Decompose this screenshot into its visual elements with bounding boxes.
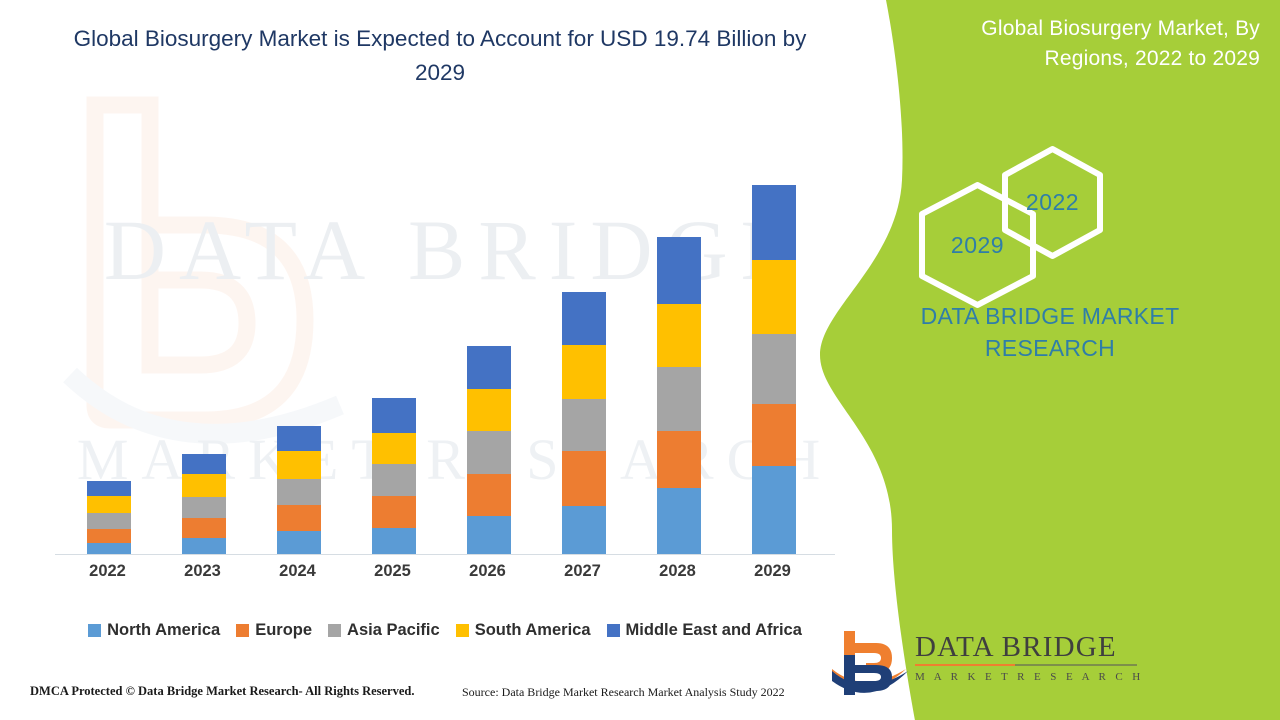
hexagon-badge-start-year: 2022 — [1000, 145, 1105, 260]
chart-legend: North AmericaEuropeAsia PacificSouth Ame… — [50, 616, 840, 644]
bar-segment — [752, 185, 796, 260]
logo-tagline: M A R K E T R E S E A R C H — [915, 668, 1215, 686]
bar-segment — [372, 464, 416, 496]
bar-segment — [277, 426, 321, 451]
bar-segment — [182, 497, 226, 518]
company-logo: DATA BRIDGE M A R K E T R E S E A R C H — [830, 625, 1250, 705]
bar-segment — [467, 474, 511, 516]
legend-swatch-icon — [236, 624, 249, 637]
bar-column — [630, 100, 725, 554]
hexagon-start-year-label: 2022 — [1000, 145, 1105, 260]
bar-column — [155, 100, 250, 554]
x-axis-line — [55, 554, 835, 555]
bar-column — [440, 100, 535, 554]
bar-segment — [467, 516, 511, 554]
bar-segment — [87, 513, 131, 529]
x-axis-tick-label: 2029 — [725, 562, 820, 581]
bar-segment — [277, 505, 321, 531]
bar-segment — [182, 454, 226, 474]
x-axis-tick-label: 2028 — [630, 562, 725, 581]
bar-segment — [87, 543, 131, 554]
brand-line-1: DATA BRIDGE MARKET — [850, 300, 1250, 332]
bar-segment — [562, 451, 606, 506]
bar-segment — [657, 488, 701, 554]
bar-segment — [182, 474, 226, 497]
logo-name: DATA BRIDGE — [915, 631, 1215, 663]
bar-segment — [657, 304, 701, 367]
bar-segment — [372, 496, 416, 528]
bar-column — [250, 100, 345, 554]
bar-segment — [277, 479, 321, 505]
bar-segment — [752, 334, 796, 404]
bar-segment — [182, 518, 226, 538]
bar-segment — [562, 399, 606, 451]
bar-segment — [657, 431, 701, 488]
bar-segment — [87, 481, 131, 496]
legend-swatch-icon — [607, 624, 620, 637]
stacked-bar — [657, 237, 701, 554]
stacked-bar — [182, 454, 226, 554]
legend-item[interactable]: North America — [88, 621, 220, 640]
logo-wordmark: DATA BRIDGE M A R K E T R E S E A R C H — [915, 631, 1215, 686]
stacked-bar — [87, 481, 131, 554]
legend-item[interactable]: South America — [456, 621, 591, 640]
data-bridge-logo-icon — [830, 625, 910, 699]
bar-segment — [87, 529, 131, 543]
legend-item[interactable]: Europe — [236, 621, 312, 640]
x-axis-tick-label: 2022 — [60, 562, 155, 581]
legend-item[interactable]: Asia Pacific — [328, 621, 440, 640]
footer-copyright: DMCA Protected © Data Bridge Market Rese… — [30, 684, 415, 699]
bar-segment — [277, 531, 321, 554]
legend-swatch-icon — [88, 624, 101, 637]
x-axis-tick-label: 2023 — [155, 562, 250, 581]
bar-segment — [657, 237, 701, 304]
bar-column — [535, 100, 630, 554]
bar-segment — [467, 431, 511, 474]
x-axis-tick-label: 2026 — [440, 562, 535, 581]
bar-segment — [372, 398, 416, 433]
bar-segment — [467, 346, 511, 389]
legend-label: Europe — [255, 621, 312, 640]
stacked-bar — [752, 185, 796, 554]
stacked-bar — [372, 398, 416, 554]
bar-segment — [372, 528, 416, 554]
legend-label: South America — [475, 621, 591, 640]
bar-segment — [182, 538, 226, 554]
x-axis-labels: 20222023202420252026202720282029 — [50, 562, 840, 588]
bar-column — [60, 100, 155, 554]
bar-segment — [277, 451, 321, 479]
footer-source: Source: Data Bridge Market Research Mark… — [462, 685, 785, 700]
hexagon-badges: 2029 2022 — [895, 140, 1125, 290]
right-panel-title: Global Biosurgery Market, By Regions, 20… — [940, 14, 1260, 74]
brand-name-block: DATA BRIDGE MARKET RESEARCH — [850, 300, 1250, 364]
stacked-bar — [467, 346, 511, 554]
bar-group — [50, 100, 840, 554]
bar-segment — [752, 466, 796, 554]
bar-segment — [657, 367, 701, 431]
right-panel-content: Global Biosurgery Market, By Regions, 20… — [820, 0, 1280, 720]
bar-segment — [752, 404, 796, 466]
bar-segment — [562, 345, 606, 399]
stacked-bar — [277, 426, 321, 554]
x-axis-tick-label: 2027 — [535, 562, 630, 581]
infographic-root: DATA BRIDGE MARKET RESEARCH Global Biosu… — [0, 0, 1280, 720]
x-axis-tick-label: 2024 — [250, 562, 345, 581]
brand-line-2: RESEARCH — [850, 332, 1250, 364]
legend-swatch-icon — [456, 624, 469, 637]
stacked-bar — [562, 292, 606, 554]
bar-segment — [752, 260, 796, 334]
x-axis-tick-label: 2025 — [345, 562, 440, 581]
stacked-bar-chart — [50, 100, 840, 555]
legend-label: Middle East and Africa — [626, 621, 802, 640]
bar-segment — [87, 496, 131, 513]
legend-item[interactable]: Middle East and Africa — [607, 621, 802, 640]
page-title: Global Biosurgery Market is Expected to … — [60, 22, 820, 90]
logo-divider — [915, 664, 1137, 666]
bar-segment — [372, 433, 416, 464]
legend-label: Asia Pacific — [347, 621, 440, 640]
legend-label: North America — [107, 621, 220, 640]
bar-column — [345, 100, 440, 554]
bar-segment — [562, 292, 606, 345]
bar-column — [725, 100, 820, 554]
bar-segment — [562, 506, 606, 554]
bar-segment — [467, 389, 511, 431]
legend-swatch-icon — [328, 624, 341, 637]
